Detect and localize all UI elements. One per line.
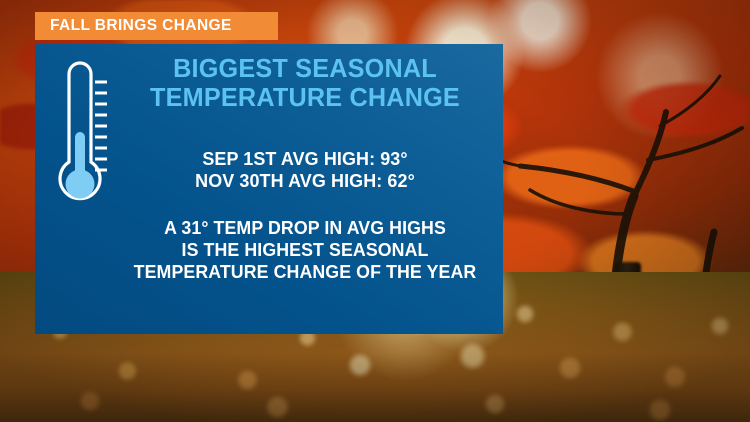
summary-line-3: TEMPERATURE CHANGE OF THE YEAR (121, 261, 490, 283)
summary-line-1: A 31° TEMP DROP IN AVG HIGHS (121, 217, 490, 239)
panel-title-line-2: TEMPERATURE CHANGE (119, 83, 491, 112)
summary-block: A 31° TEMP DROP IN AVG HIGHS IS THE HIGH… (113, 217, 497, 284)
info-panel: BIGGEST SEASONAL TEMPERATURE CHANGE SEP … (35, 44, 503, 334)
headline-banner-label: FALL BRINGS CHANGE (50, 17, 232, 35)
stats-block: SEP 1ST AVG HIGH: 93° NOV 30TH AVG HIGH:… (113, 148, 497, 192)
summary-line-2: IS THE HIGHEST SEASONAL (121, 239, 490, 261)
weather-graphic: FALL BRINGS CHANGE (0, 0, 750, 422)
stat-nov-avg-high: NOV 30TH AVG HIGH: 62° (119, 170, 491, 192)
stat-sep-avg-high: SEP 1ST AVG HIGH: 93° (119, 148, 491, 170)
thermometer-icon (49, 52, 113, 222)
info-panel-body: BIGGEST SEASONAL TEMPERATURE CHANGE SEP … (113, 54, 497, 283)
headline-banner: FALL BRINGS CHANGE (35, 12, 278, 40)
panel-title-line-1: BIGGEST SEASONAL (119, 54, 491, 83)
